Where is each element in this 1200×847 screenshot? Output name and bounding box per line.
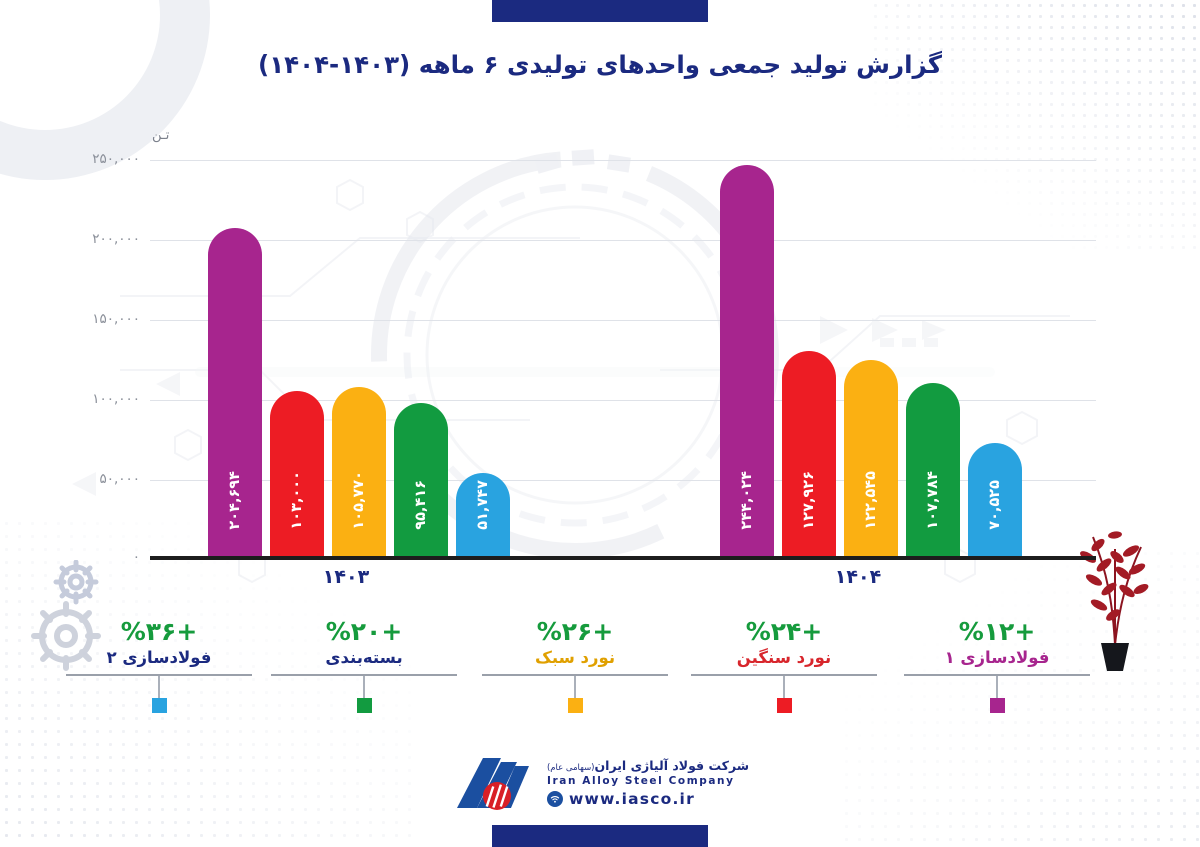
x-axis-baseline [150, 556, 1096, 560]
bar-value-label: ۱۰۷,۷۸۴ [925, 471, 941, 530]
bar-value-label: ۹۵,۴۱۶ [413, 480, 429, 530]
legend-item-nord-sabok[interactable]: +%۲۶ نورد سبک [482, 618, 668, 713]
bar-1403-nord-sabok[interactable]: ۱۰۵,۷۷۰ [332, 387, 386, 556]
legend-series-name: بسته‌بندی [271, 648, 457, 668]
bar-1404-bastebandi[interactable]: ۱۰۷,۷۸۴ [906, 383, 960, 556]
legend-color-swatch [357, 698, 372, 713]
ytick-label-50000: ۵۰,۰۰۰ [66, 471, 140, 487]
legend-item-foladsazi-2[interactable]: +%۳۶ فولادسازی ۲ [66, 618, 252, 713]
bar-value-label: ۱۲۲,۵۴۵ [863, 471, 879, 530]
bar-value-label: ۵۱,۷۴۷ [475, 480, 491, 530]
bar-value-label: ۱۲۷,۹۲۶ [801, 471, 817, 530]
company-website-url[interactable]: www.iasco.ir [569, 790, 695, 808]
legend-series-name: نورد سبک [482, 648, 668, 668]
bar-value-label: ۷۰,۵۲۵ [987, 480, 1003, 530]
ytick-label-250000: ۲۵۰,۰۰۰ [66, 151, 140, 167]
bar-1403-foladsazi-2[interactable]: ۵۱,۷۴۷ [456, 473, 510, 556]
decorative-tab-bottom [492, 825, 708, 847]
bar-value-label: ۱۰۵,۷۷۰ [351, 471, 367, 530]
bar-1403-bastebandi[interactable]: ۹۵,۴۱۶ [394, 403, 448, 556]
bar-1403-nord-sangin[interactable]: ۱۰۳,۰۰۰ [270, 391, 324, 556]
bars-layer: ۲۰۴,۶۹۴ ۱۰۳,۰۰۰ ۱۰۵,۷۷۰ ۹۵,۴۱۶ ۵۱,۷۴۷ ۲۴… [150, 128, 1096, 556]
bar-1404-nord-sangin[interactable]: ۱۲۷,۹۲۶ [782, 351, 836, 556]
bar-value-label: ۲۴۴,۰۲۴ [739, 471, 755, 530]
legend-color-swatch [568, 698, 583, 713]
infographic-canvas: گزارش تولید جمعی واحدهای تولیدی ۶ ماهه (… [0, 0, 1200, 847]
company-name-fa-suffix: (سهامی عام) [547, 763, 595, 773]
bar-value-label: ۱۰۳,۰۰۰ [289, 471, 305, 530]
legend-color-swatch [152, 698, 167, 713]
bar-value-label: ۲۰۴,۶۹۴ [227, 471, 243, 530]
group-label-1403: ۱۴۰۳ [323, 566, 369, 588]
bar-1404-foladsazi-2[interactable]: ۷۰,۵۲۵ [968, 443, 1022, 556]
ytick-label-150000: ۱۵۰,۰۰۰ [66, 311, 140, 327]
legend-growth-percent: +%۳۶ [66, 618, 252, 646]
legend-growth-percent: +%۲۶ [482, 618, 668, 646]
footer-branding: شرکت فولاد آلیاژی ایران(سهامی عام) Iran … [0, 752, 1200, 824]
legend-series-name: نورد سنگین [691, 648, 877, 668]
legend-growth-percent: +%۲۰ [271, 618, 457, 646]
company-name-fa: شرکت فولاد آلیاژی ایران(سهامی عام) [547, 758, 749, 773]
wifi-icon [547, 791, 563, 807]
ytick-label-0: ۰ [66, 549, 140, 565]
legend-stem [363, 676, 365, 698]
legend-growth-percent: +%۲۴ [691, 618, 877, 646]
legend-item-foladsazi-1[interactable]: +%۱۲ فولادسازی ۱ [904, 618, 1090, 713]
bar-1404-nord-sabok[interactable]: ۱۲۲,۵۴۵ [844, 360, 898, 556]
chart-plot-area: تـن ۲۵۰,۰۰۰ ۲۰۰,۰۰۰ ۱۵۰,۰۰۰ ۱۰۰,۰۰۰ ۵۰,۰… [66, 128, 1096, 560]
legend-stem [996, 676, 998, 698]
group-label-1404: ۱۴۰۴ [835, 566, 881, 588]
legend-stem [783, 676, 785, 698]
legend-series-name: فولادسازی ۱ [904, 648, 1090, 668]
decorative-tab-top [492, 0, 708, 22]
legend-stem [158, 676, 160, 698]
bar-1404-foladsazi-1[interactable]: ۲۴۴,۰۲۴ [720, 165, 774, 556]
ytick-label-200000: ۲۰۰,۰۰۰ [66, 231, 140, 247]
legend-color-swatch [777, 698, 792, 713]
page-title: گزارش تولید جمعی واحدهای تولیدی ۶ ماهه (… [0, 50, 1200, 79]
legend-stem [574, 676, 576, 698]
legend-color-swatch [990, 698, 1005, 713]
company-logo-lockup: شرکت فولاد آلیاژی ایران(سهامی عام) Iran … [451, 752, 749, 814]
legend-growth-percent: +%۱۲ [904, 618, 1090, 646]
company-website-row[interactable]: www.iasco.ir [547, 790, 749, 808]
company-name-en: Iran Alloy Steel Company [547, 775, 749, 787]
company-logo-text: شرکت فولاد آلیاژی ایران(سهامی عام) Iran … [547, 758, 749, 808]
legend-series-name: فولادسازی ۲ [66, 648, 252, 668]
bar-1403-foladsazi-1[interactable]: ۲۰۴,۶۹۴ [208, 228, 262, 556]
legend-item-nord-sangin[interactable]: +%۲۴ نورد سنگین [691, 618, 877, 713]
legend-item-bastebandi[interactable]: +%۲۰ بسته‌بندی [271, 618, 457, 713]
chart-legend: +%۳۶ فولادسازی ۲ +%۲۰ بسته‌بندی +%۲۶ نور… [66, 618, 1096, 728]
ytick-label-100000: ۱۰۰,۰۰۰ [66, 391, 140, 407]
company-name-fa-main: شرکت فولاد آلیاژی ایران [595, 758, 750, 773]
company-logo-icon [451, 752, 535, 814]
